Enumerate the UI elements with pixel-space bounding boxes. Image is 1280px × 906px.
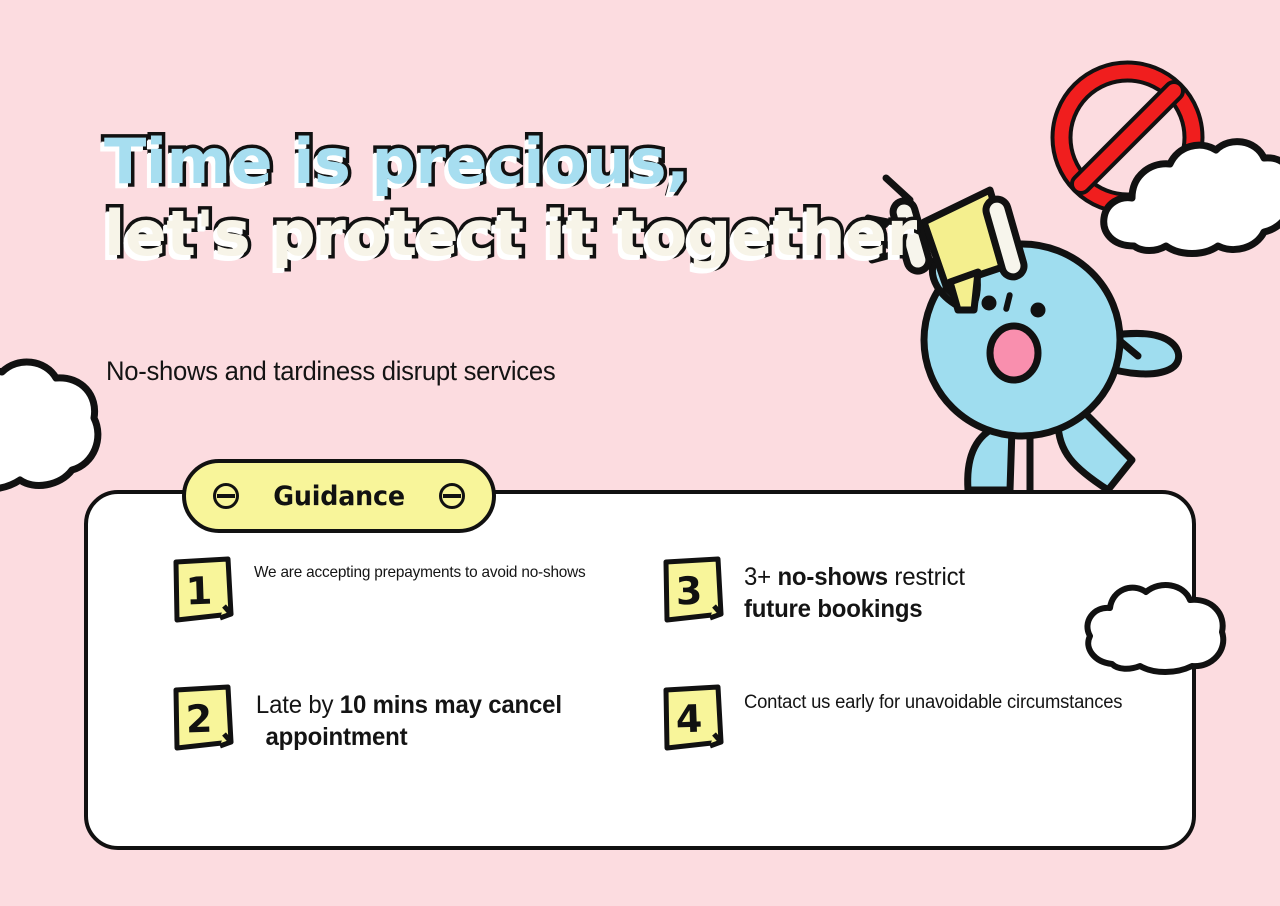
headline-line-2: let's protect it together bbox=[104, 204, 917, 264]
item-2-line-1: Late by 10 mins may cancel bbox=[256, 690, 562, 722]
sticky-note-icon-3: 3 bbox=[662, 556, 724, 624]
headline: Time is precious, let's protect it toget… bbox=[104, 132, 917, 263]
item-3-text-part-4: future bookings bbox=[744, 595, 922, 623]
sticky-note-icon-4: 4 bbox=[662, 684, 724, 752]
headline-line-1: Time is precious, bbox=[104, 132, 917, 192]
guidance-item-1-text: We are accepting prepayments to avoid no… bbox=[254, 556, 586, 584]
cloud-top-right bbox=[1096, 128, 1280, 258]
guidance-item-3: 3 3+ no-shows restrict future bookings bbox=[662, 556, 1162, 684]
guidance-item-4-text: Contact us early for unavoidable circums… bbox=[744, 684, 1122, 717]
poster-canvas: Time is precious, let's protect it toget… bbox=[0, 0, 1280, 906]
item-3-text-part-2: no-shows bbox=[777, 563, 887, 591]
item-2-text-part-3: appointment bbox=[266, 723, 408, 751]
sticky-note-number-4: 4 bbox=[661, 689, 717, 749]
item-3-text-part-3: restrict bbox=[888, 563, 965, 591]
item-2-text-part-1: Late by bbox=[256, 691, 340, 719]
guidance-items: 1 We are accepting prepayments to avoid … bbox=[84, 490, 1196, 850]
guidance-item-4: 4 Contact us early for unavoidable circu… bbox=[662, 684, 1162, 812]
no-entry-icon bbox=[1050, 60, 1205, 215]
item-3-line-1: 3+ no-shows restrict bbox=[744, 562, 965, 594]
item-3-line-2: future bookings bbox=[744, 594, 965, 626]
guidance-item-2: 2 Late by 10 mins may cancel appointment bbox=[172, 684, 662, 812]
item-2-line-2: appointment bbox=[256, 722, 562, 754]
sticky-note-icon-2: 2 bbox=[172, 684, 234, 752]
sticky-note-number-3: 3 bbox=[661, 561, 717, 621]
item-3-text-part-1: 3+ bbox=[744, 563, 777, 591]
item-2-text-part-2: 10 mins may cancel bbox=[340, 691, 562, 719]
cloud-left-edge bbox=[0, 352, 110, 497]
guidance-item-1: 1 We are accepting prepayments to avoid … bbox=[172, 556, 662, 684]
sticky-note-number-1: 1 bbox=[171, 561, 227, 621]
sticky-note-number-2: 2 bbox=[171, 689, 227, 749]
guidance-item-3-text: 3+ no-shows restrict future bookings bbox=[744, 556, 965, 625]
item-4-text-part-1: Contact us early for unavoidable circums… bbox=[744, 692, 1122, 713]
guidance-item-2-text: Late by 10 mins may cancel appointment bbox=[254, 684, 562, 753]
item-1-text-part-1: We are accepting prepayments to avoid no… bbox=[254, 564, 586, 581]
sticky-note-icon-1: 1 bbox=[172, 556, 234, 624]
subtitle: No-shows and tardiness disrupt services bbox=[106, 356, 555, 387]
